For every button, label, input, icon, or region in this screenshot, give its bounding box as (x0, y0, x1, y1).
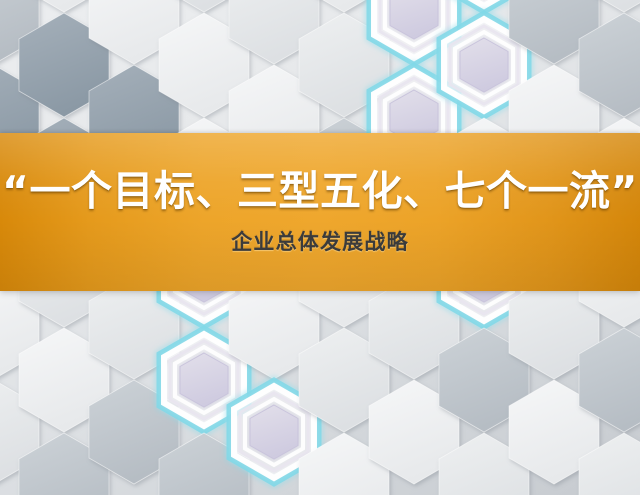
main-title: “一个目标、三型五化、七个一流” (2, 170, 638, 213)
presentation-slide: “一个目标、三型五化、七个一流” 企业总体发展战略 (0, 0, 640, 495)
title-banner: “一个目标、三型五化、七个一流” 企业总体发展战略 (0, 133, 640, 291)
title-banner-content: “一个目标、三型五化、七个一流” 企业总体发展战略 (0, 133, 640, 291)
sub-title: 企业总体发展战略 (231, 231, 409, 254)
